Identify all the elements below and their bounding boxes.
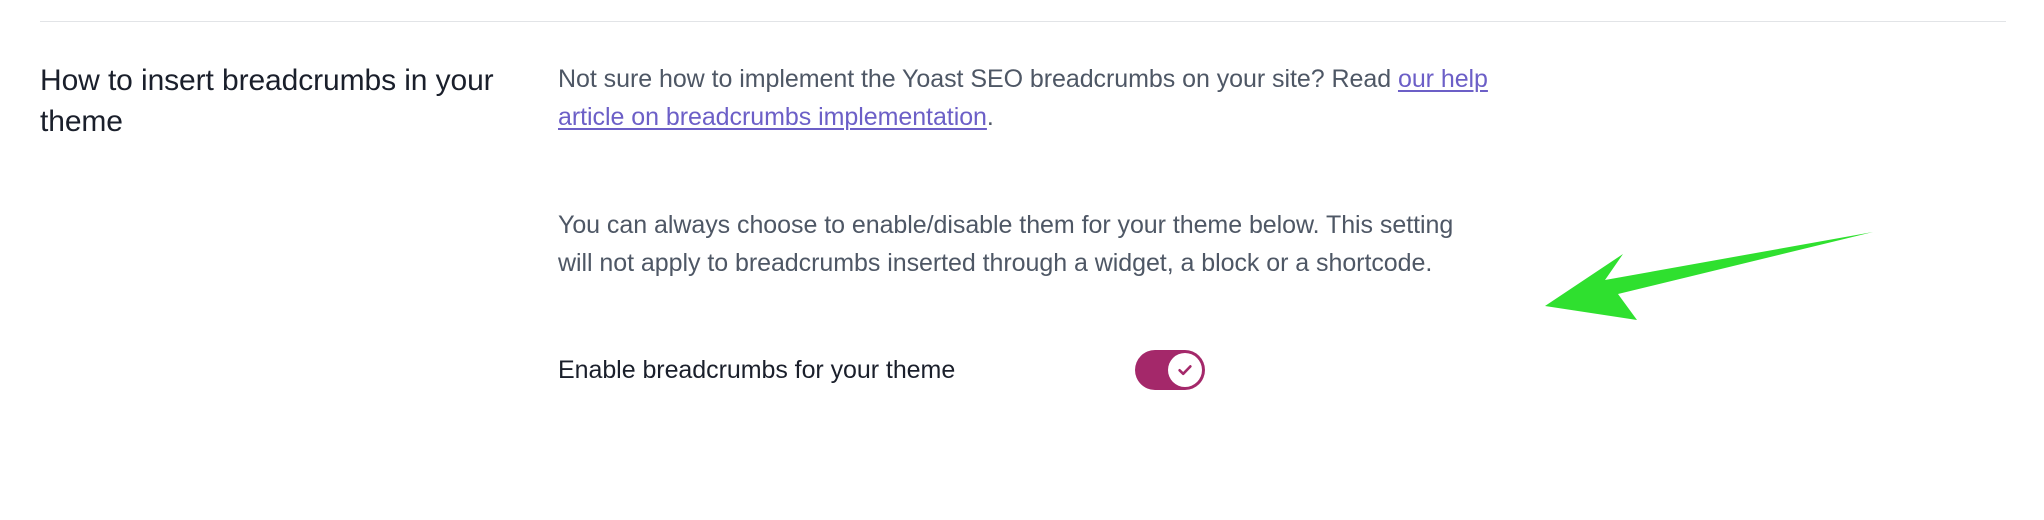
- body-paragraph: You can always choose to enable/disable …: [558, 206, 1476, 282]
- check-icon: [1176, 361, 1194, 379]
- toggle-knob: [1168, 353, 1202, 387]
- enable-breadcrumbs-label: Enable breadcrumbs for your theme: [558, 353, 955, 387]
- intro-text-before-link: Not sure how to implement the Yoast SEO …: [558, 65, 1398, 93]
- enable-breadcrumbs-toggle[interactable]: [1135, 350, 1205, 390]
- settings-screen: How to insert breadcrumbs in your theme …: [0, 0, 2044, 520]
- intro-text-after-link: .: [987, 103, 994, 131]
- setting-content-column: Not sure how to implement the Yoast SEO …: [558, 60, 2044, 390]
- enable-breadcrumbs-field: Enable breadcrumbs for your theme: [558, 350, 2004, 390]
- page-title: How to insert breadcrumbs in your theme: [40, 60, 534, 142]
- intro-paragraph: Not sure how to implement the Yoast SEO …: [558, 60, 1488, 136]
- toggle-wrapper: [1135, 350, 1205, 390]
- section-divider: [40, 21, 2006, 22]
- setting-label-column: How to insert breadcrumbs in your theme: [0, 60, 558, 142]
- breadcrumbs-theme-setting-row: How to insert breadcrumbs in your theme …: [0, 60, 2044, 390]
